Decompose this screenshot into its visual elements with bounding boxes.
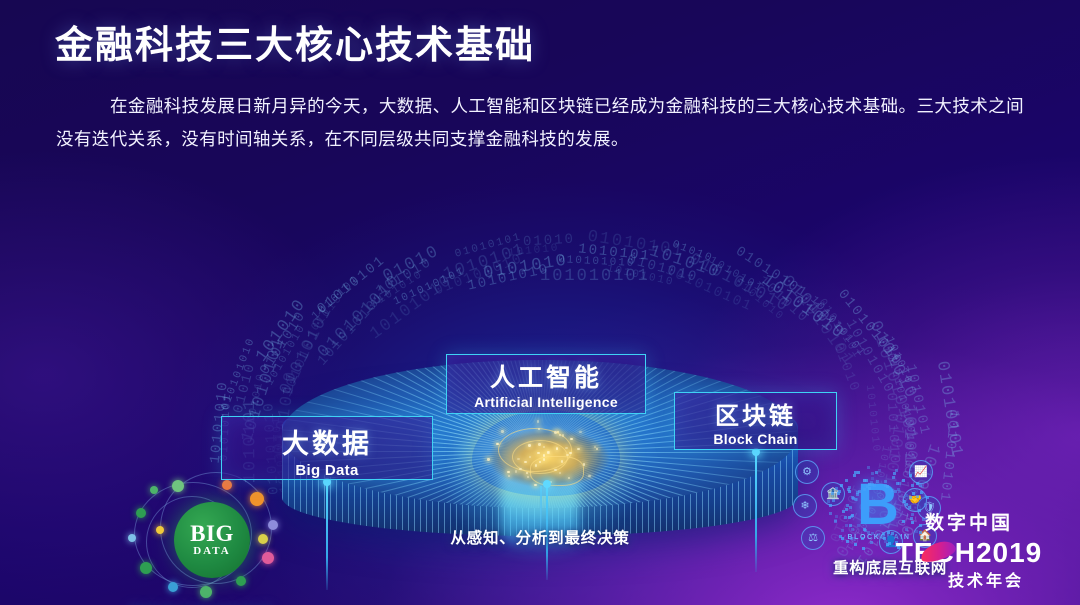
bd-node-dot	[268, 520, 278, 530]
brain-fold	[530, 456, 584, 486]
blockchain-pixel	[866, 485, 869, 488]
blockchain-pixel	[905, 503, 908, 506]
blockchain-pixel	[912, 492, 915, 495]
logo-wordmark-text: TECH2019	[896, 537, 1043, 568]
blockchain-pixel	[857, 471, 860, 474]
blockchain-pixel	[873, 484, 876, 487]
blockchain-pixel	[863, 488, 866, 491]
brain-spark	[524, 461, 526, 463]
blockchain-pixel	[851, 514, 854, 517]
blockchain-pixel	[916, 482, 919, 485]
blockchain-pixel	[920, 491, 923, 494]
bc-node-chart-icon: 📈	[909, 460, 933, 484]
blockchain-pixel	[898, 482, 901, 485]
label-big-data-cn: 大数据	[222, 422, 432, 461]
blockchain-pixel	[882, 532, 885, 535]
page-title: 金融科技三大核心技术基础	[55, 14, 535, 69]
label-box-ai[interactable]: 人工智能 Artificial Intelligence	[446, 354, 646, 414]
blockchain-pixel	[876, 480, 879, 483]
brain-spark	[577, 448, 579, 450]
blockchain-pixel	[849, 524, 852, 527]
blockchain-pixel	[849, 506, 852, 509]
bd-node-dot	[140, 562, 152, 574]
caption-ai: 从感知、分析到最终决策	[436, 526, 644, 548]
brain-spark	[501, 430, 503, 432]
brain-stem	[540, 486, 542, 528]
big-data-badge: BIG DATA	[174, 502, 250, 578]
brain-spark	[526, 472, 528, 474]
brain-spark	[561, 460, 563, 462]
brain-spark	[543, 458, 545, 460]
blockchain-pixel	[867, 531, 870, 534]
blockchain-pixel	[892, 476, 895, 479]
big-data-badge-primary: BIG	[190, 523, 234, 545]
body-paragraph: 在金融科技发展日新月异的今天，大数据、人工智能和区块链已经成为金融科技的三大核心…	[56, 90, 1024, 156]
bc-node-scales-icon: ⚖	[801, 526, 825, 550]
blockchain-pixel	[829, 504, 832, 507]
blockchain-pixel	[898, 490, 901, 493]
blockchain-pixel	[840, 484, 843, 487]
blockchain-pixel	[862, 547, 865, 550]
blockchain-pixel	[909, 474, 912, 477]
label-box-big-data[interactable]: 大数据 Big Data	[221, 416, 433, 480]
label-big-data-en: Big Data	[222, 462, 432, 479]
blockchain-pixel	[887, 531, 890, 534]
blockchain-pixel	[905, 494, 908, 497]
blockchain-pixel	[911, 484, 914, 487]
bd-node-dot	[200, 586, 212, 598]
blockchain-pixel	[886, 485, 889, 488]
bd-node-dot	[172, 480, 184, 492]
brain-spark	[583, 463, 585, 465]
brain-spark	[565, 447, 567, 449]
blockchain-pixel	[837, 492, 840, 495]
blockchain-pixel	[893, 472, 896, 475]
bd-node-dot	[236, 576, 246, 586]
blockchain-pixel	[834, 519, 837, 522]
blockchain-pixel	[884, 480, 887, 483]
blockchain-pixel	[902, 479, 905, 482]
blockchain-pixel	[924, 495, 927, 498]
blockchain-pixel	[844, 516, 847, 519]
label-box-blockchain[interactable]: 区块链 Block Chain	[674, 392, 837, 450]
logo-wordmark: TECH2019	[896, 537, 1043, 569]
blockchain-pixel	[924, 504, 927, 507]
brain-spark	[559, 434, 561, 436]
blockchain-pixel	[877, 533, 880, 536]
blockchain-pixel	[841, 529, 844, 532]
bd-node-dot	[136, 508, 146, 518]
bd-node-dot	[168, 582, 178, 592]
conference-logo: 数字中国 TECH2019 技术年会	[894, 508, 1044, 591]
label-blockchain-cn: 区块链	[675, 396, 836, 431]
blockchain-pixel	[852, 497, 855, 500]
blockchain-pixel	[831, 492, 834, 495]
blockchain-pixel	[921, 485, 924, 488]
blockchain-pixel	[845, 524, 848, 527]
brain-spark	[547, 451, 549, 453]
blockchain-pixel	[916, 495, 919, 498]
blockchain-pixel	[871, 532, 874, 535]
bc-node-leaf-icon: ❄	[793, 494, 817, 518]
blockchain-pixel	[827, 500, 830, 503]
blockchain-pixel	[867, 466, 870, 469]
brain-spark	[556, 447, 558, 449]
blockchain-pixel	[842, 510, 845, 513]
blockchain-pixel	[839, 535, 842, 538]
brain-spark	[568, 477, 570, 479]
blockchain-pixel	[838, 490, 841, 493]
blockchain-pixel	[863, 528, 866, 531]
connector-stem-big-data	[326, 482, 328, 590]
label-blockchain-en: Block Chain	[675, 431, 836, 447]
big-data-icon-cluster: BIG DATA	[128, 478, 290, 602]
blockchain-pixel	[870, 541, 873, 544]
blockchain-pixel	[895, 469, 898, 472]
blockchain-pixel	[832, 499, 835, 502]
bd-node-dot	[128, 534, 136, 542]
blockchain-pixel	[871, 477, 874, 480]
brain-spark	[507, 471, 509, 473]
blockchain-pixel	[829, 512, 832, 515]
brain-spark	[559, 472, 561, 474]
blockchain-pixel	[846, 540, 849, 543]
label-ai-cn: 人工智能	[447, 358, 645, 394]
brain-spark	[554, 469, 556, 471]
blockchain-pixel	[909, 496, 912, 499]
blockchain-pixel	[886, 543, 889, 546]
big-data-badge-secondary: DATA	[193, 545, 231, 557]
bd-node-dot	[222, 480, 232, 490]
logo-line-digital-china: 数字中国	[894, 508, 1044, 535]
brain-spark	[519, 468, 521, 470]
brain-spark	[537, 452, 539, 454]
blockchain-pixel	[868, 487, 871, 490]
brain-spark	[554, 431, 556, 433]
brain-spark	[528, 444, 530, 446]
bd-node-dot	[262, 552, 274, 564]
bd-node-dot	[250, 492, 264, 506]
blockchain-pixel	[853, 538, 856, 541]
blockchain-pixel	[894, 490, 897, 493]
bd-node-dot	[258, 534, 268, 544]
blockchain-pixel	[857, 524, 860, 527]
bd-node-dot	[156, 526, 164, 534]
blockchain-pixel	[854, 543, 857, 546]
blockchain-pixel	[851, 528, 854, 531]
brain-spark	[538, 443, 540, 445]
blockchain-pixel	[871, 472, 874, 475]
bc-node-link-icon: ⚙	[795, 460, 819, 484]
blockchain-pixel	[856, 493, 859, 496]
blockchain-pixel	[845, 479, 848, 482]
brain-spark	[566, 454, 568, 456]
blockchain-pixel	[902, 500, 905, 503]
slide-canvas: 1010101010101010101010101010101011010101…	[0, 0, 1080, 605]
blockchain-pixel	[878, 469, 881, 472]
blockchain-pixel	[835, 515, 838, 518]
blockchain-pixel	[861, 537, 864, 540]
blockchain-pixel	[926, 496, 929, 499]
brain-spark	[487, 458, 489, 460]
logo-line-annual-conference: 技术年会	[894, 567, 1044, 591]
blockchain-pixel	[853, 474, 856, 477]
label-ai-en: Artificial Intelligence	[447, 394, 645, 410]
connector-stem-blockchain	[755, 452, 757, 572]
bd-node-dot	[150, 486, 158, 494]
blockchain-pixel	[865, 479, 868, 482]
brain-spark	[543, 454, 545, 456]
brain-spark	[570, 438, 572, 440]
blockchain-pixel	[848, 490, 851, 493]
